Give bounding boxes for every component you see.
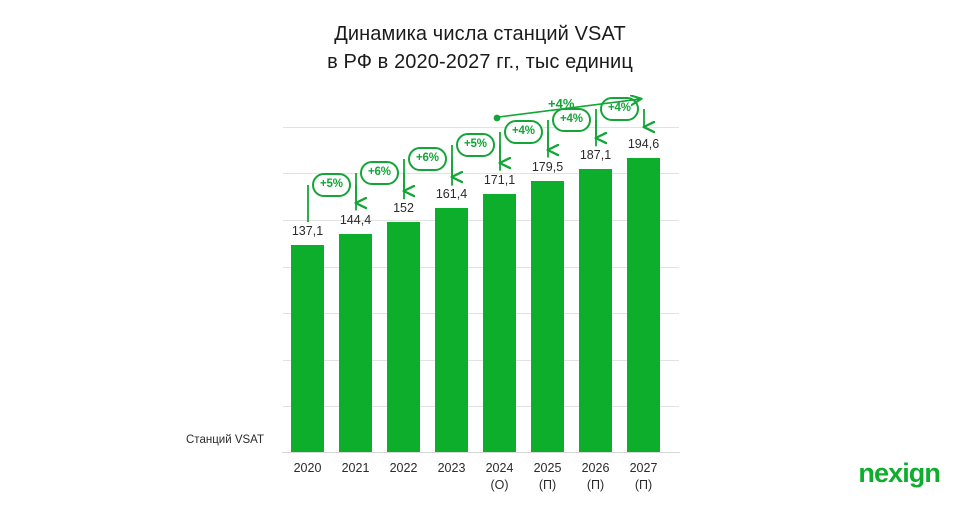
chart-canvas: Динамика числа станций VSAT в РФ в 2020-… [0,0,960,510]
bar-value-label: 137,1 [285,224,331,238]
axis-baseline [282,452,680,453]
x-axis-tick-sublabel: (П) [522,477,574,494]
x-axis-tick-year: 2025 [534,461,562,475]
x-axis-tick-year: 2021 [342,461,370,475]
bar-value-label: 161,4 [429,187,475,201]
bar-value-label: 171,1 [477,173,523,187]
bar [435,208,468,452]
bar-value-label: 152 [381,201,427,215]
bar [291,245,324,452]
x-axis-tick: 2020 [282,460,334,477]
bar-value-label: 179,5 [525,160,571,174]
x-axis-tick-year: 2024 [486,461,514,475]
x-axis-tick-sublabel: (О) [474,477,526,494]
bar [483,194,516,452]
x-axis-tick-year: 2023 [438,461,466,475]
chart-title-line-1: Динамика числа станций VSAT [0,20,960,48]
trend-arrow-icon [480,85,680,135]
x-axis-tick: 2026(П) [570,460,622,494]
bar [339,234,372,452]
x-axis-tick: 2025(П) [522,460,574,494]
series-caption: Станций VSAT [186,434,264,446]
bar-value-label: 187,1 [573,148,619,162]
bar-value-label: 194,6 [621,137,667,151]
x-axis-tick: 2027(П) [618,460,670,494]
x-axis-tick-year: 2022 [390,461,418,475]
x-axis-tick: 2023 [426,460,478,477]
bar [387,222,420,452]
x-axis-tick: 2022 [378,460,430,477]
x-axis-tick-year: 2027 [630,461,658,475]
trend-arrow-label: +4% [548,96,574,111]
x-axis-tick: 2024(О) [474,460,526,494]
nexign-logo: nexign [858,458,940,488]
x-axis-tick: 2021 [330,460,382,477]
x-axis-tick-sublabel: (П) [570,477,622,494]
x-axis-tick-year: 2020 [294,461,322,475]
chart-title-line-2: в РФ в 2020-2027 гг., тыс единиц [0,48,960,76]
x-axis-tick-year: 2026 [582,461,610,475]
bar-value-label: 144,4 [333,213,379,227]
bar [579,169,612,452]
bar [627,158,660,452]
x-axis-tick-sublabel: (П) [618,477,670,494]
bar [531,181,564,452]
chart-title: Динамика числа станций VSAT в РФ в 2020-… [0,20,960,76]
